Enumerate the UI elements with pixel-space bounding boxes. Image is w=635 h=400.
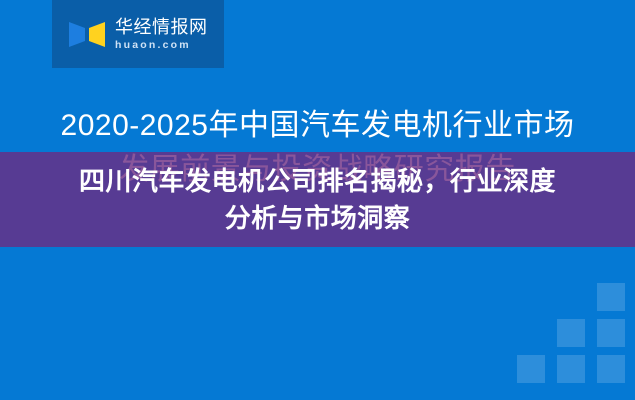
logo-domain-name: huaon.com — [115, 40, 208, 51]
headline-overlay-band: 四川汽车发电机公司排名揭秘，行业深度 分析与市场洞察 — [0, 152, 635, 247]
banner-cover-image: 华经情报网 huaon.com 2020-2025年中国汽车发电机行业市场 发展… — [0, 0, 635, 400]
logo-text-group: 华经情报网 huaon.com — [115, 18, 208, 51]
decorative-square — [557, 355, 585, 383]
site-logo[interactable]: 华经情报网 huaon.com — [52, 0, 224, 68]
decorative-square — [557, 319, 585, 347]
open-book-icon — [68, 18, 106, 51]
headline-line2: 分析与市场洞察 — [225, 200, 411, 237]
decorative-square — [597, 283, 625, 311]
report-title-line1: 2020-2025年中国汽车发电机行业市场 — [0, 104, 635, 148]
headline-line1: 四川汽车发电机公司排名揭秘，行业深度 — [79, 163, 556, 200]
decorative-square — [597, 355, 625, 383]
decorative-square — [597, 319, 625, 347]
decorative-square — [517, 355, 545, 383]
logo-chinese-name: 华经情报网 — [115, 18, 208, 36]
